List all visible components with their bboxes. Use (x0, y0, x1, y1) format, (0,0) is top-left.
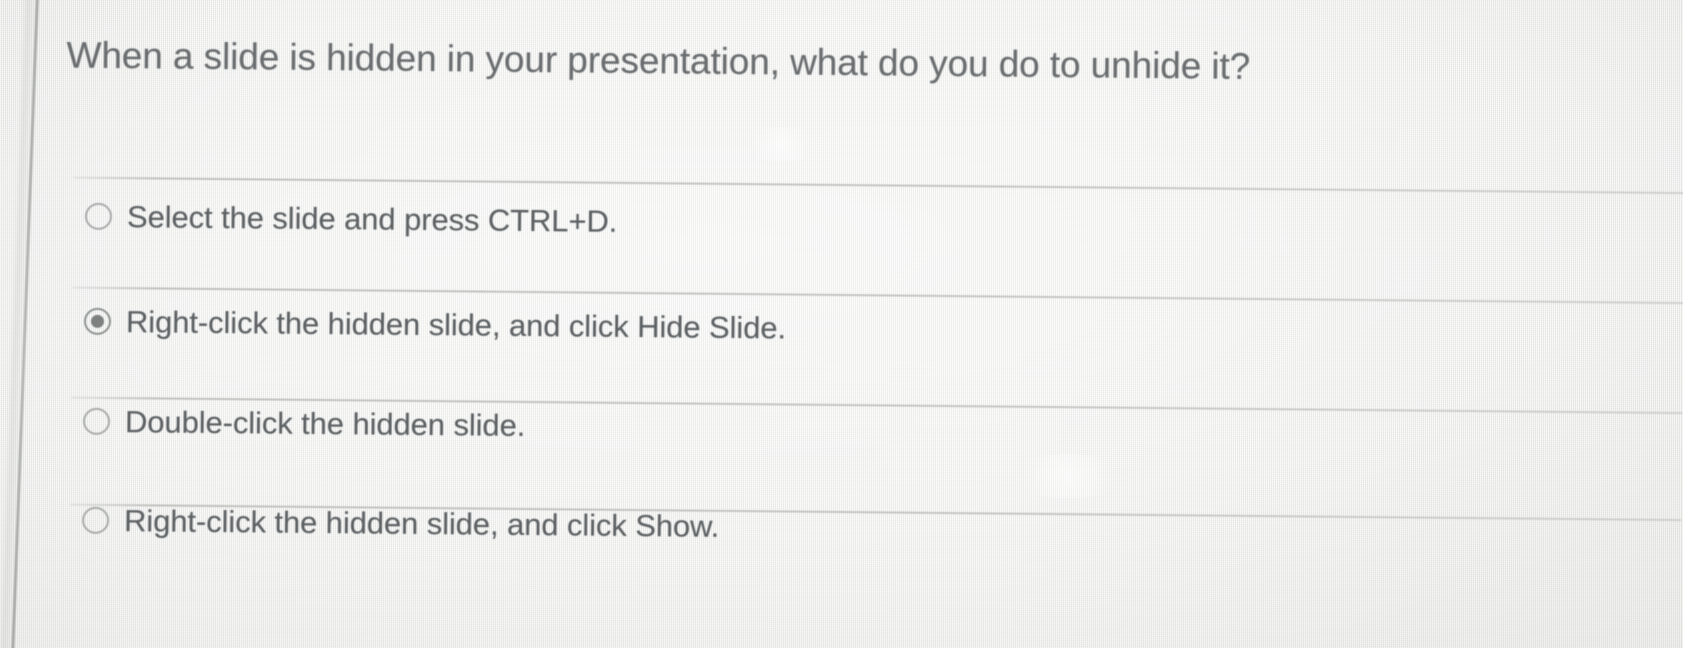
radio-button-icon[interactable] (85, 203, 112, 230)
radio-button-icon[interactable] (82, 507, 109, 534)
option-divider (72, 287, 1683, 304)
answer-option-d[interactable]: Right-click the hidden slide, and click … (82, 505, 719, 542)
answer-option-c[interactable]: Double-click the hidden slide. (83, 406, 526, 441)
answer-option-label: Right-click the hidden slide, and click … (126, 306, 786, 343)
answer-option-label: Select the slide and press CTRL+D. (127, 201, 618, 237)
quiz-question-screenshot: When a slide is hidden in your presentat… (0, 0, 1683, 648)
radio-button-selected-icon[interactable] (84, 308, 111, 335)
tilted-ui-plane: When a slide is hidden in your presentat… (0, 0, 1683, 648)
radio-button-icon[interactable] (83, 408, 110, 435)
option-divider (73, 177, 1683, 194)
answer-option-a[interactable]: Select the slide and press CTRL+D. (85, 201, 618, 237)
answer-option-label: Right-click the hidden slide, and click … (124, 505, 719, 542)
answer-option-b[interactable]: Right-click the hidden slide, and click … (84, 306, 786, 344)
answer-option-label: Double-click the hidden slide. (125, 406, 526, 441)
answer-options-list: Select the slide and press CTRL+D.Right-… (0, 0, 1683, 648)
